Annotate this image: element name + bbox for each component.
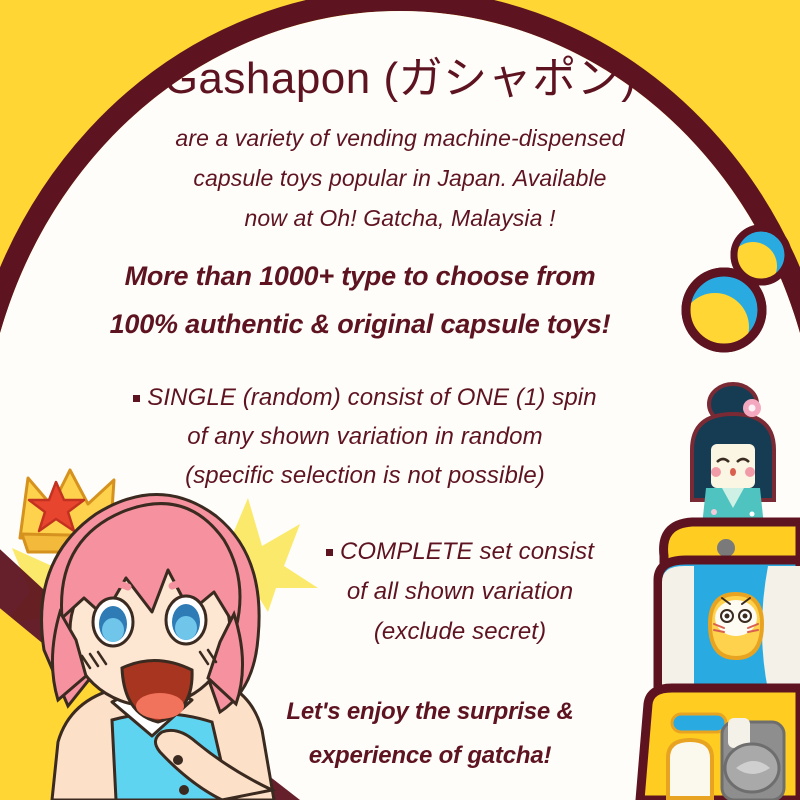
bullet-square-icon [326, 549, 333, 556]
complete-line-1-text: COMPLETE set consist [340, 538, 594, 565]
intro-line-1: are a variety of vending machine-dispens… [90, 118, 710, 158]
tagline-line-2: experience of gatcha! [230, 734, 630, 778]
kokeshi-doll [692, 384, 774, 526]
bullet-square-icon [133, 395, 140, 402]
headline-claims: More than 1000+ type to choose from 100%… [40, 252, 680, 348]
complete-line-1: COMPLETE set consist [275, 532, 645, 572]
daruma-capsule-toy [710, 594, 762, 658]
title-text: Gashapon (ガシャポン) [80, 57, 720, 101]
single-line-2: of any shown variation in random [95, 417, 635, 456]
intro-line-2: capsule toys popular in Japan. Available [90, 158, 710, 198]
complete-line-2: of all shown variation [275, 572, 645, 612]
sakura-flower-icon [743, 399, 761, 417]
single-line-3: (specific selection is not possible) [95, 456, 635, 495]
intro-line-3: now at Oh! Gatcha, Malaysia ! [90, 198, 710, 238]
single-option-description: SINGLE (random) consist of ONE (1) spin … [95, 378, 635, 495]
complete-line-3: (exclude secret) [275, 612, 645, 652]
headline-line-2: 100% authentic & original capsule toys! [40, 300, 680, 348]
closing-tagline: Let's enjoy the surprise & experience of… [230, 690, 630, 778]
poster-title: Gashapon (ガシャポン) [80, 57, 720, 101]
single-line-1-text: SINGLE (random) consist of ONE (1) spin [147, 384, 596, 411]
single-line-1: SINGLE (random) consist of ONE (1) spin [95, 378, 635, 417]
gashapon-promo-poster: Gashapon (ガシャポン) are a variety of vendin… [0, 0, 800, 800]
gashapon-machine [640, 522, 800, 800]
capsule-large [681, 272, 762, 361]
tagline-line-1: Let's enjoy the surprise & [230, 690, 630, 734]
intro-paragraph: are a variety of vending machine-dispens… [90, 118, 710, 238]
complete-option-description: COMPLETE set consist of all shown variat… [275, 532, 645, 652]
headline-line-1: More than 1000+ type to choose from [40, 252, 680, 300]
